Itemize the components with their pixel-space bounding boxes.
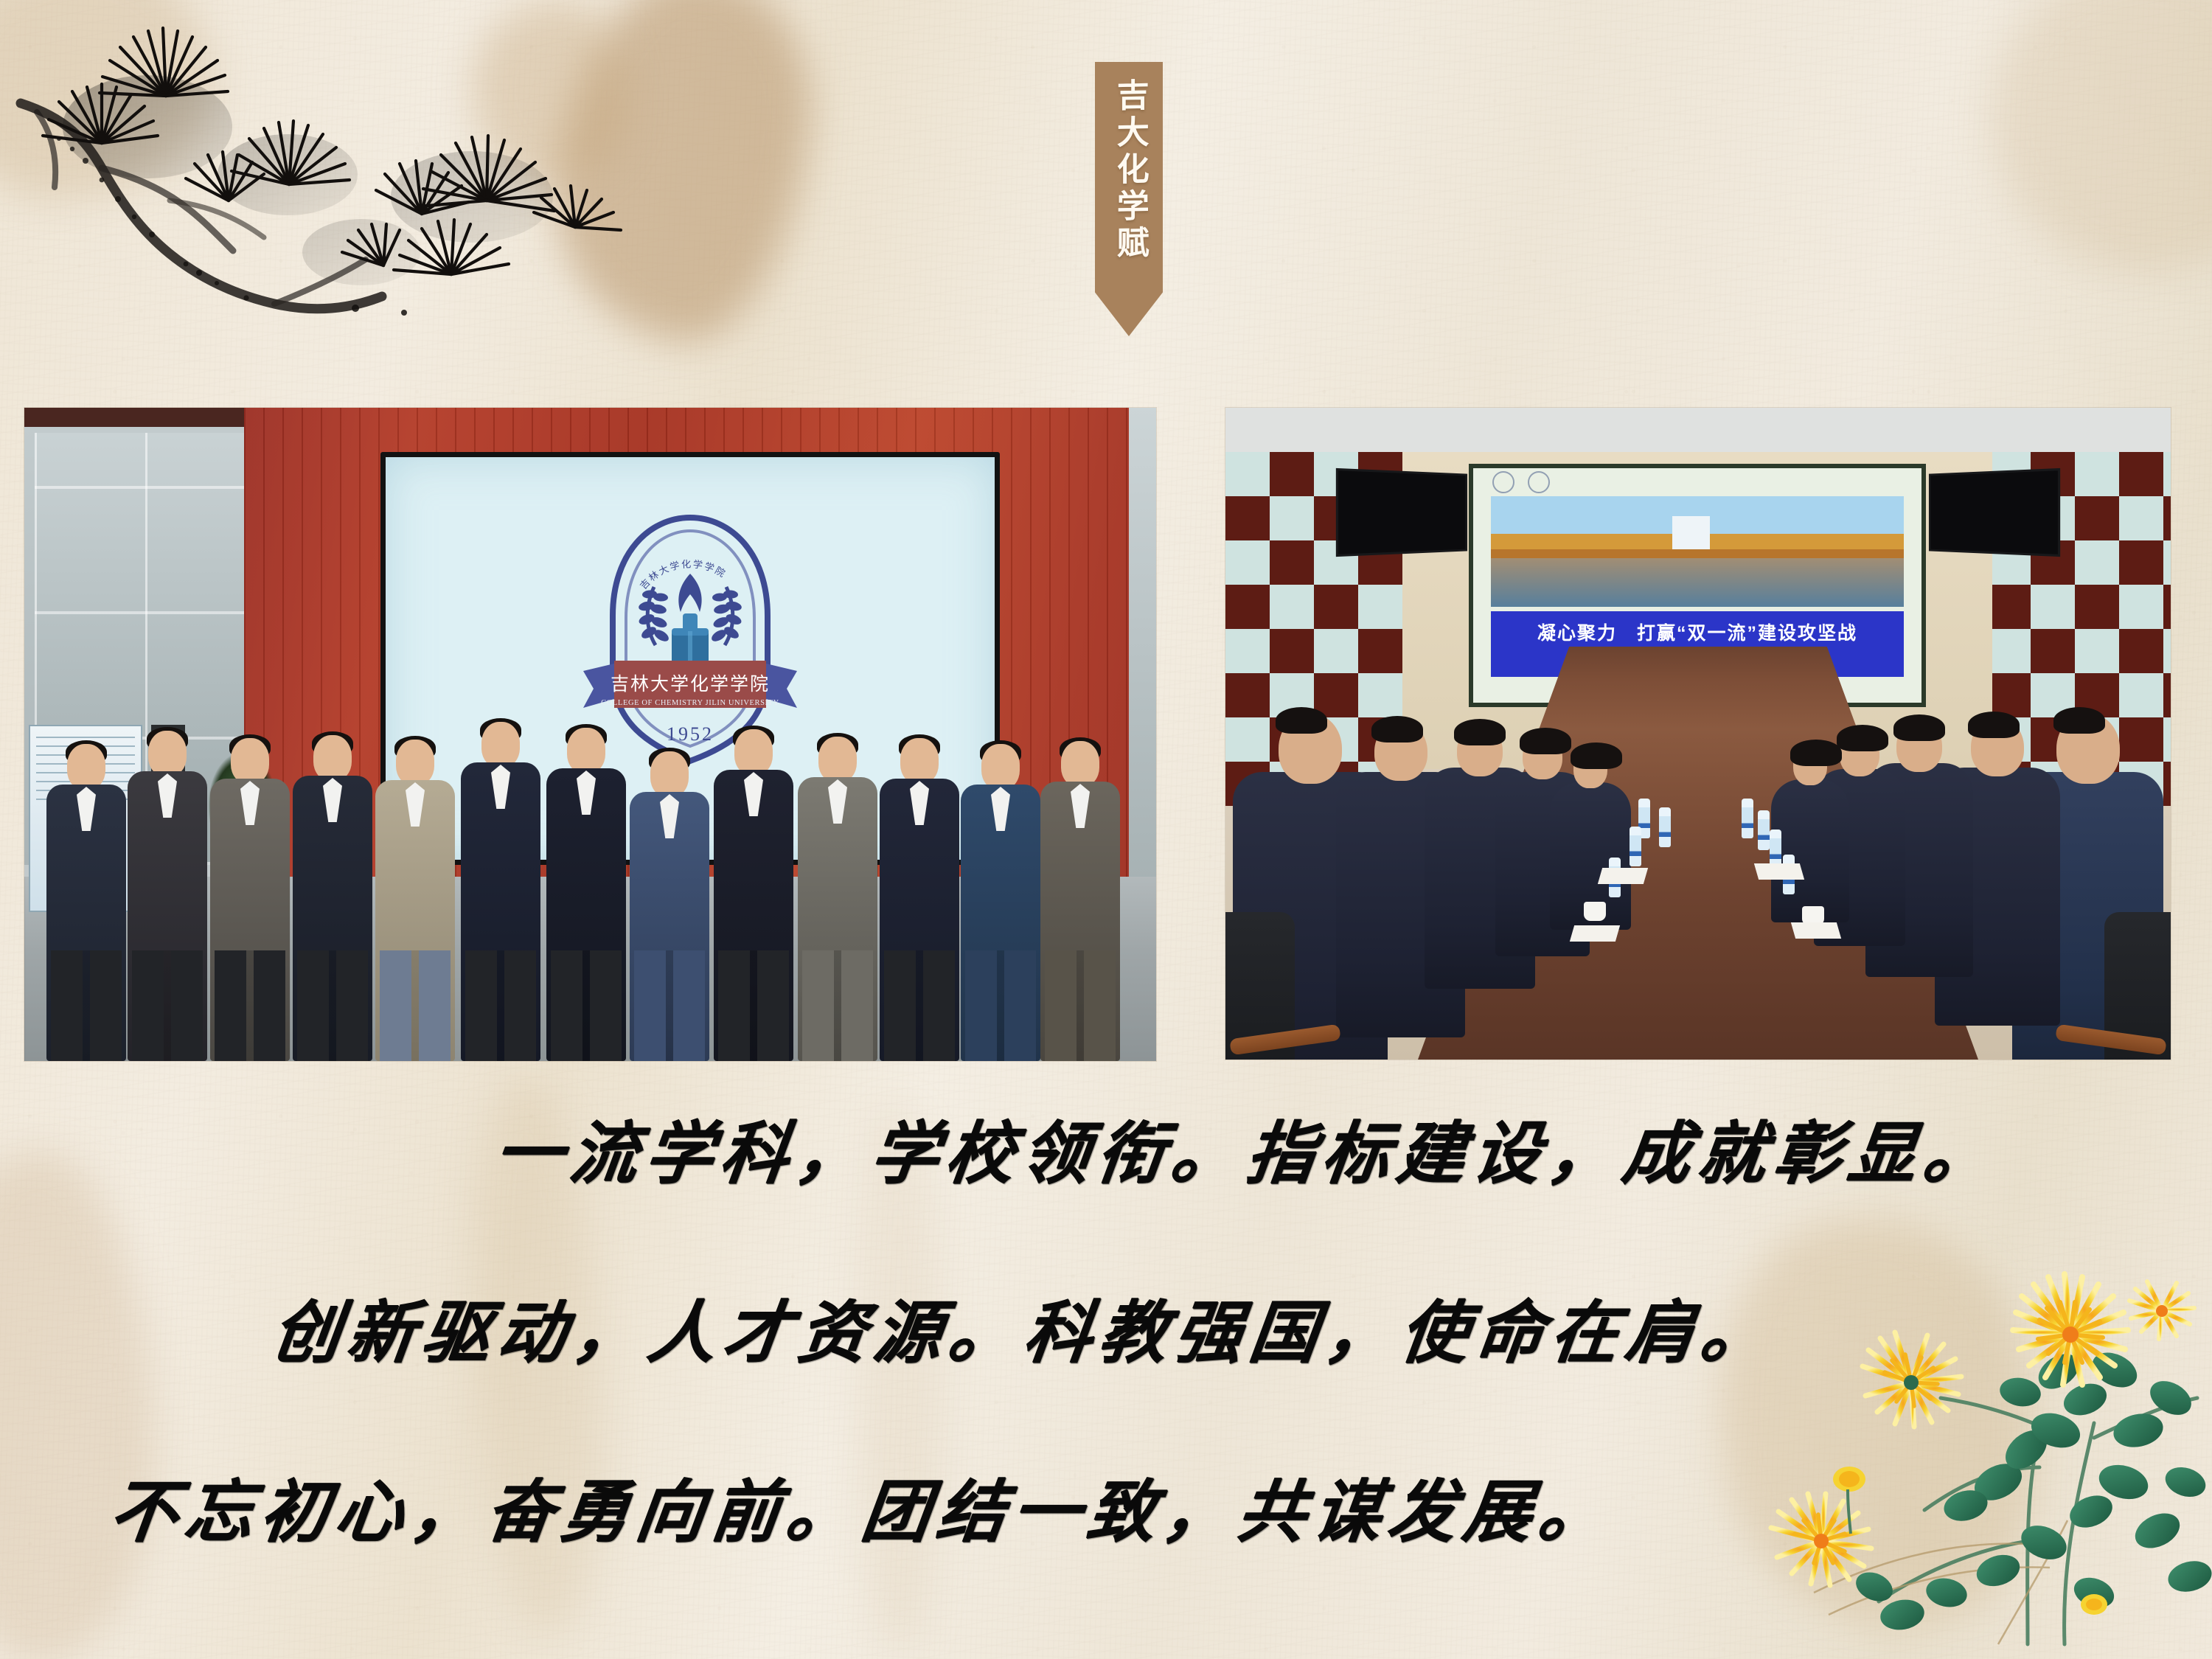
person xyxy=(629,751,710,1061)
water-bottle xyxy=(1659,807,1671,847)
svg-text:COLLEGE OF CHEMISTRY JILIN UNI: COLLEGE OF CHEMISTRY JILIN UNIVERSITY xyxy=(601,699,779,707)
person xyxy=(128,731,207,1061)
verse-line-1: 一流学科，学校领衔。指标建设，成就彰显。 xyxy=(490,1099,2212,1197)
person xyxy=(375,740,455,1061)
document xyxy=(1791,922,1841,939)
attendee xyxy=(1771,779,1849,922)
document xyxy=(1598,868,1648,884)
person xyxy=(797,737,878,1061)
meeting-photo: 凝心聚力 打赢“双一流”建设攻坚战 张希校长赴化学学院调研 2019年3月13日 xyxy=(1225,408,2171,1060)
svg-text:吉林大学化学学院: 吉林大学化学学院 xyxy=(611,674,770,695)
university-seal-icon xyxy=(1492,471,1514,493)
ribbon-title: 吉大化学赋 xyxy=(1107,77,1152,262)
person xyxy=(46,744,126,1061)
person xyxy=(713,729,794,1061)
chrysanthemum-icon xyxy=(1681,1246,2212,1659)
person xyxy=(210,738,290,1061)
people-row xyxy=(24,707,1156,1061)
water-bottle xyxy=(1742,799,1753,838)
person xyxy=(880,738,959,1061)
vertical-title-ribbon: 吉大化学赋 xyxy=(1095,62,1163,336)
projection-title: 凝心聚力 打赢“双一流”建设攻坚战 xyxy=(1491,619,1904,645)
document xyxy=(1570,925,1620,942)
person xyxy=(961,744,1040,1061)
person xyxy=(293,735,372,1061)
water-bottle xyxy=(1758,810,1770,850)
person xyxy=(1040,741,1120,1061)
tv-monitor-right xyxy=(1929,468,2060,557)
water-bottle xyxy=(1630,827,1641,866)
campus-photo xyxy=(1491,496,1904,607)
person xyxy=(459,722,542,1061)
tv-monitor-left xyxy=(1336,468,1467,557)
document xyxy=(1754,863,1804,880)
person xyxy=(545,728,627,1061)
tea-cup xyxy=(1584,902,1606,921)
slide-canvas: 吉大化学赋 吉林大学化学学院 xyxy=(0,0,2212,1659)
pine-branch-icon xyxy=(15,16,664,326)
group-photo: 吉林大学化学学院 xyxy=(24,408,1156,1061)
college-seal-icon xyxy=(1528,471,1550,493)
